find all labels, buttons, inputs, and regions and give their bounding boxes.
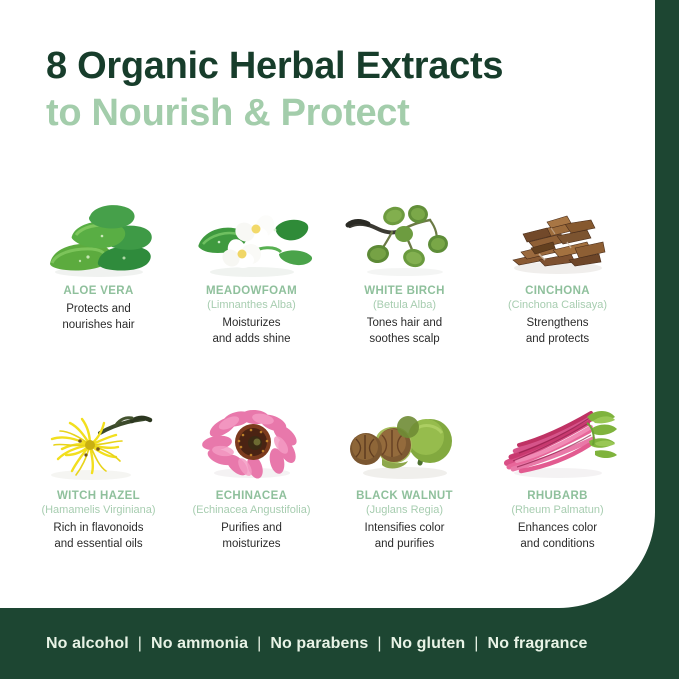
claim-separator: | — [138, 635, 142, 653]
infographic-page: 8 Organic Herbal Extracts to Nourish & P… — [0, 0, 679, 679]
extract-card-rhubarb: RHUBARB (Rheum Palmatun) Enhances color … — [481, 397, 634, 552]
extract-card-white-birch: WHITE BIRCH (Betula Alba) Tones hair and… — [328, 192, 481, 347]
cinchona-bark-icon — [495, 192, 621, 280]
extract-latin-name: (Betula Alba) — [373, 298, 436, 312]
claim-separator: | — [257, 635, 261, 653]
claim-separator: | — [474, 635, 478, 653]
echinacea-flower-icon — [189, 397, 315, 485]
claim-no-gluten: No gluten — [391, 635, 466, 653]
extract-card-aloe-vera: ALOE VERA Protects and nourishes hair — [22, 192, 175, 347]
extract-latin-name: (Cinchona Calisaya) — [508, 298, 607, 312]
meadowfoam-flower-icon — [189, 192, 315, 280]
title-line-primary: 8 Organic Herbal Extracts — [46, 44, 626, 89]
aloe-vera-icon — [36, 192, 162, 280]
extract-name: ECHINACEA — [216, 489, 288, 503]
extract-card-echinacea: ECHINACEA (Echinacea Angustifolia) Purif… — [175, 397, 328, 552]
extract-latin-name: (Limnanthes Alba) — [207, 298, 296, 312]
claim-separator: | — [377, 635, 381, 653]
claim-no-parabens: No parabens — [270, 635, 368, 653]
extract-description: Strengthens and protects — [526, 316, 589, 347]
extract-description: Tones hair and soothes scalp — [367, 316, 442, 347]
extract-name: BLACK WALNUT — [356, 489, 453, 503]
footer-claims-list: No alcohol | No ammonia | No parabens | … — [46, 635, 587, 653]
extract-description: Protects and nourishes hair — [62, 302, 134, 333]
extract-latin-name: (Juglans Regia) — [366, 503, 443, 517]
extract-latin-name: (Echinacea Angustifolia) — [192, 503, 310, 517]
footer-claims-bar: No alcohol | No ammonia | No parabens | … — [0, 608, 679, 679]
extract-name: ALOE VERA — [63, 284, 133, 298]
extract-description: Purifies and moisturizes — [221, 521, 282, 552]
title-line-secondary: to Nourish & Protect — [46, 91, 626, 136]
extract-latin-name: (Hamamelis Virginiana) — [41, 503, 155, 517]
rhubarb-stalks-icon — [495, 397, 621, 485]
extract-card-witch-hazel: WITCH HAZEL (Hamamelis Virginiana) Rich … — [22, 397, 175, 552]
extract-description: Enhances color and conditions — [518, 521, 597, 552]
extract-name: WITCH HAZEL — [57, 489, 140, 503]
extract-name: WHITE BIRCH — [364, 284, 445, 298]
extract-name: MEADOWFOAM — [206, 284, 297, 298]
extract-latin-name: (Rheum Palmatun) — [511, 503, 603, 517]
page-title: 8 Organic Herbal Extracts to Nourish & P… — [46, 44, 626, 136]
extract-card-cinchona: CINCHONA (Cinchona Calisaya) Strengthens… — [481, 192, 634, 347]
extract-row-1: ALOE VERA Protects and nourishes hair — [22, 192, 634, 347]
extract-row-2: WITCH HAZEL (Hamamelis Virginiana) Rich … — [22, 397, 634, 552]
witch-hazel-flower-icon — [36, 397, 162, 485]
extract-name: CINCHONA — [525, 284, 590, 298]
extract-description: Moisturizes and adds shine — [212, 316, 290, 347]
extract-name: RHUBARB — [527, 489, 588, 503]
claim-no-fragrance: No fragrance — [488, 635, 588, 653]
white-birch-branch-icon — [342, 192, 468, 280]
extract-description: Rich in flavonoids and essential oils — [53, 521, 143, 552]
claim-no-alcohol: No alcohol — [46, 635, 129, 653]
black-walnut-icon — [342, 397, 468, 485]
claim-no-ammonia: No ammonia — [151, 635, 248, 653]
extract-card-black-walnut: BLACK WALNUT (Juglans Regia) Intensifies… — [328, 397, 481, 552]
extract-description: Intensifies color and purifies — [365, 521, 445, 552]
extract-card-meadowfoam: MEADOWFOAM (Limnanthes Alba) Moisturizes… — [175, 192, 328, 347]
